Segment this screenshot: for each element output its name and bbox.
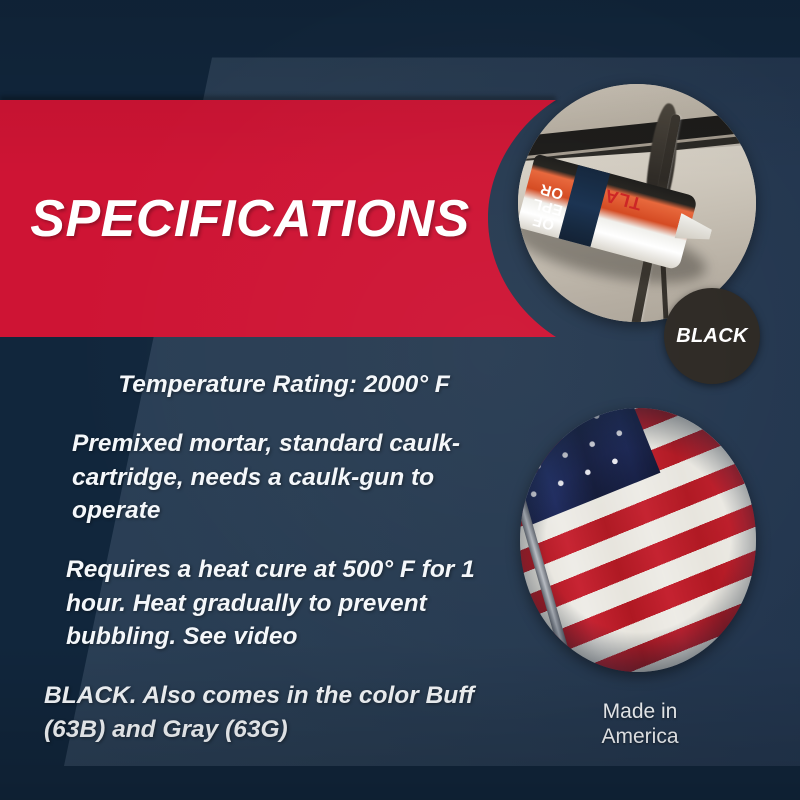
spec-item-premixed-mortar: Premixed mortar, standard caulk-cartridg… (44, 427, 524, 527)
spec-item-temperature-rating: Temperature Rating: 2000° F (44, 368, 524, 401)
background-bottom-strip (0, 766, 800, 800)
made-in-line: Made in (560, 700, 720, 725)
infographic-canvas: SPECIFICATIONS OF EPL OR TLA BLACK Tempe… (0, 0, 800, 800)
specifications-list: Temperature Rating: 2000° F Premixed mor… (44, 368, 524, 746)
photo-crack-repair: OF EPL OR TLA (518, 84, 756, 322)
spec-item-heat-cure: Requires a heat cure at 500° F for 1 hou… (44, 553, 524, 653)
black-badge-label: BLACK (676, 325, 748, 348)
flag-scene (520, 408, 756, 672)
photo-american-flag (520, 408, 756, 672)
spec-item-colors: BLACK. Also comes in the color Buff (63B… (44, 679, 524, 746)
page-title: SPECIFICATIONS (0, 100, 500, 337)
status-badge-color-black: BLACK (664, 288, 760, 384)
crack-scene: OF EPL OR TLA (518, 84, 756, 322)
flag-vignette (520, 408, 756, 672)
made-in-america-caption: Made in America (560, 700, 720, 750)
made-country-line: America (560, 725, 720, 750)
